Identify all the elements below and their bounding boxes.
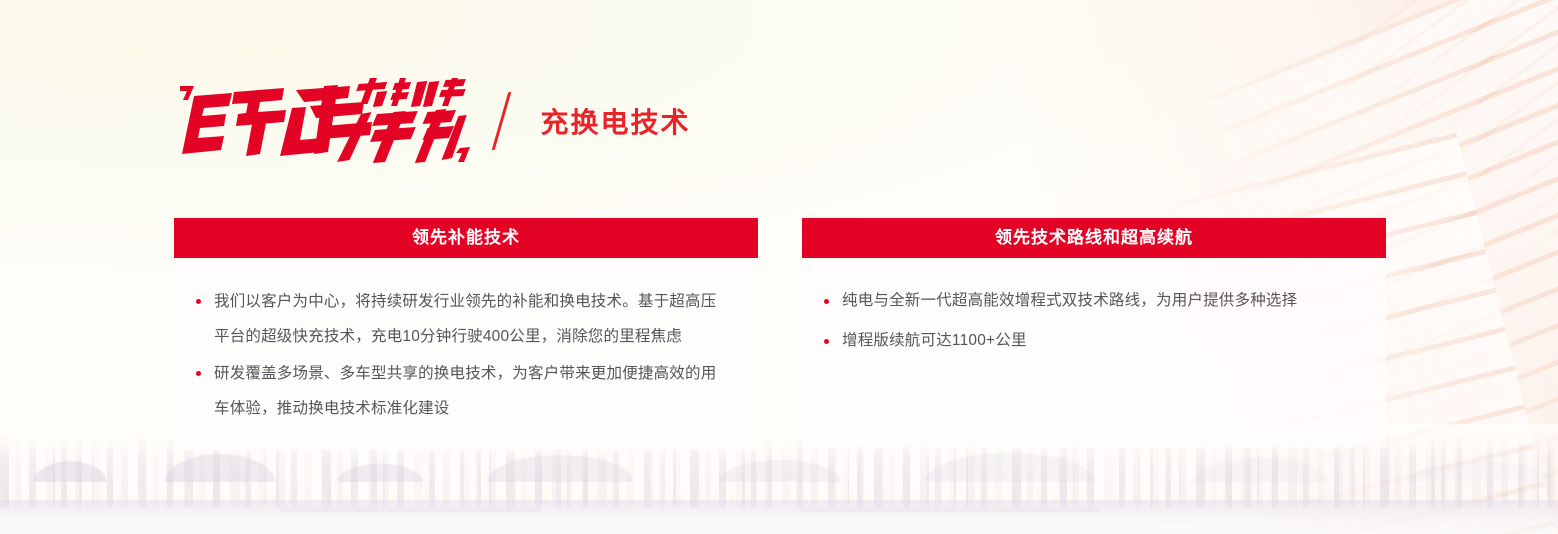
list-item: 我们以客户为中心，将持续研发行业领先的补能和换电技术。基于超高压平台的超级快充技… <box>192 284 732 354</box>
list-item: 研发覆盖多场景、多车型共享的换电技术，为客户带来更加便捷高效的用车体验，推动换电… <box>192 356 732 426</box>
list-item-text: 增程版续航可达1100+公里 <box>842 332 1027 349</box>
list-item: 增程版续航可达1100+公里 <box>820 324 1360 358</box>
card-title: 领先补能技术 <box>174 218 758 258</box>
page-title: 充换电技术 <box>541 101 691 141</box>
bullet-dot-icon <box>824 299 829 304</box>
bullet-dot-icon <box>196 299 201 304</box>
card-title: 领先技术路线和超高续航 <box>802 218 1386 258</box>
bullet-list: 我们以客户为中心，将持续研发行业领先的补能和换电技术。基于超高压平台的超级快充技… <box>192 284 732 426</box>
card-leading-tech-route-and-range: 领先技术路线和超高续航 纯电与全新一代超高能效增程式双技术路线，为用户提供多种选… <box>802 218 1386 450</box>
card-body: 纯电与全新一代超高能效增程式双技术路线，为用户提供多种选择 增程版续航可达110… <box>802 258 1386 447</box>
header-divider <box>492 92 511 150</box>
list-item-text: 我们以客户为中心，将持续研发行业领先的补能和换电技术。基于超高压平台的超级快充技… <box>214 293 716 345</box>
brand-logo: 跃迁行动 新能源 <box>174 78 474 164</box>
bullet-dot-icon <box>196 371 201 376</box>
list-item-text: 研发覆盖多场景、多车型共享的换电技术，为客户带来更加便捷高效的用车体验，推动换电… <box>214 365 716 417</box>
list-item: 纯电与全新一代超高能效增程式双技术路线，为用户提供多种选择 <box>820 284 1360 318</box>
card-body: 我们以客户为中心，将持续研发行业领先的补能和换电技术。基于超高压平台的超级快充技… <box>174 258 758 450</box>
bullet-list: 纯电与全新一代超高能效增程式双技术路线，为用户提供多种选择 增程版续航可达110… <box>820 284 1360 358</box>
list-item-text: 纯电与全新一代超高能效增程式双技术路线，为用户提供多种选择 <box>842 292 1297 309</box>
banner-header: 跃迁行动 新能源 充换电技术 <box>174 78 691 164</box>
cards-row: 领先补能技术 我们以客户为中心，将持续研发行业领先的补能和换电技术。基于超高压平… <box>174 218 1386 450</box>
banner-stage: 跃迁行动 新能源 充换电技术 领先补能技术 我们以客户为中心，将持续研发行业领先… <box>0 0 1558 534</box>
card-leading-recharging-technology: 领先补能技术 我们以客户为中心，将持续研发行业领先的补能和换电技术。基于超高压平… <box>174 218 758 450</box>
bullet-dot-icon <box>824 339 829 344</box>
